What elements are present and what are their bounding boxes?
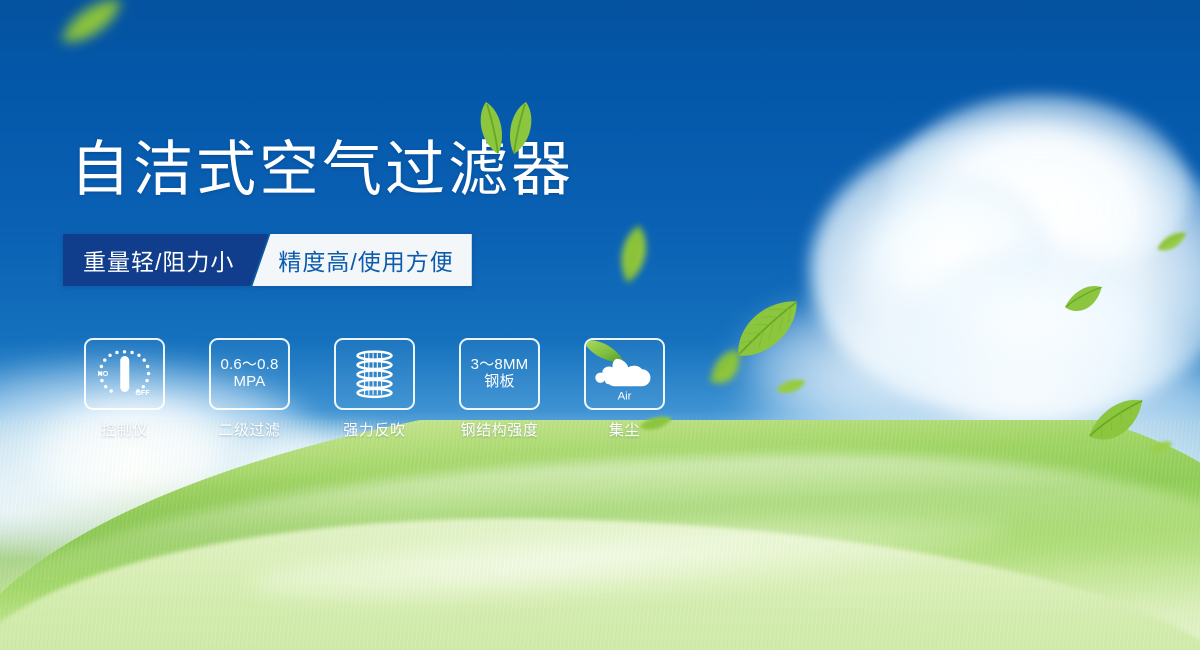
banner-content: 自洁式空气过滤器 重量轻/阻力小 精度高/使用方便 <box>0 0 1200 650</box>
air-text: Air <box>618 391 632 403</box>
feature-item-control-instrument[interactable]: NO OFF 控制仪 <box>76 338 173 440</box>
pressure-range: 0.6～0.8 <box>220 356 278 373</box>
steel-plate-text-icon: 3～8MM 钢板 <box>471 357 529 391</box>
control-dial-icon: NO OFF <box>86 340 163 408</box>
title-block: 自洁式空气过滤器 <box>70 140 574 200</box>
subtitle-ribbon: 重量轻/阻力小 精度高/使用方便 <box>63 234 472 286</box>
dial-off-label: OFF <box>135 389 150 397</box>
feature-label: 集尘 <box>609 419 640 440</box>
feature-item-strong-backblow[interactable]: 强力反吹 <box>326 338 423 440</box>
subtitle-left-tag: 重量轻/阻力小 <box>63 234 268 286</box>
air-cloud-icon: Air <box>586 340 663 408</box>
feature-label: 强力反吹 <box>343 419 405 440</box>
feature-box: 0.6～0.8 MPA <box>209 338 290 410</box>
pressure-text-icon: 0.6～0.8 MPA <box>220 357 278 391</box>
pressure-unit: MPA <box>220 374 278 391</box>
dial-no-label: NO <box>98 370 109 378</box>
filter-coil-icon <box>336 340 413 408</box>
feature-label: 钢结构强度 <box>460 419 538 440</box>
feature-label: 控制仪 <box>101 419 148 440</box>
subtitle-right-tag: 精度高/使用方便 <box>252 234 471 286</box>
feature-list: NO OFF 控制仪 0.6～0.8 MPA 二级过滤 <box>76 338 673 440</box>
steel-thickness: 3～8MM <box>471 356 529 373</box>
hero-banner: 自洁式空气过滤器 重量轻/阻力小 精度高/使用方便 <box>0 0 1200 650</box>
feature-item-dust-collection[interactable]: Air 集尘 <box>576 338 673 440</box>
feature-box: Air <box>584 338 665 410</box>
feature-label: 二级过滤 <box>218 419 280 440</box>
feature-item-two-stage-filter[interactable]: 0.6～0.8 MPA 二级过滤 <box>201 338 298 440</box>
sprout-leaves-icon <box>470 98 542 156</box>
feature-box: 3～8MM 钢板 <box>459 338 540 410</box>
feature-box <box>334 338 415 410</box>
feature-item-steel-strength[interactable]: 3～8MM 钢板 钢结构强度 <box>451 338 548 440</box>
steel-material: 钢板 <box>471 374 529 391</box>
feature-box: NO OFF <box>84 338 165 410</box>
